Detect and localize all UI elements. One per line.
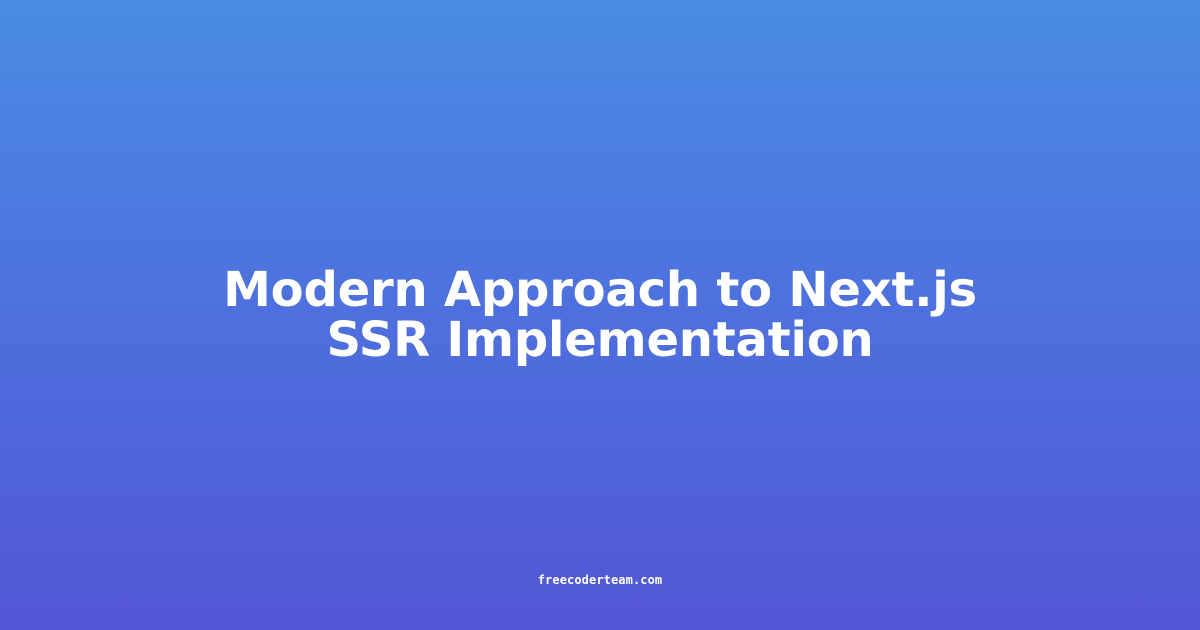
site-domain-label: freecoderteam.com (538, 573, 663, 587)
og-share-card: Modern Approach to Next.js SSR Implement… (0, 0, 1200, 630)
title-block: Modern Approach to Next.js SSR Implement… (200, 265, 1000, 366)
page-title: Modern Approach to Next.js SSR Implement… (200, 265, 1000, 366)
footer-block: freecoderteam.com (0, 569, 1200, 588)
